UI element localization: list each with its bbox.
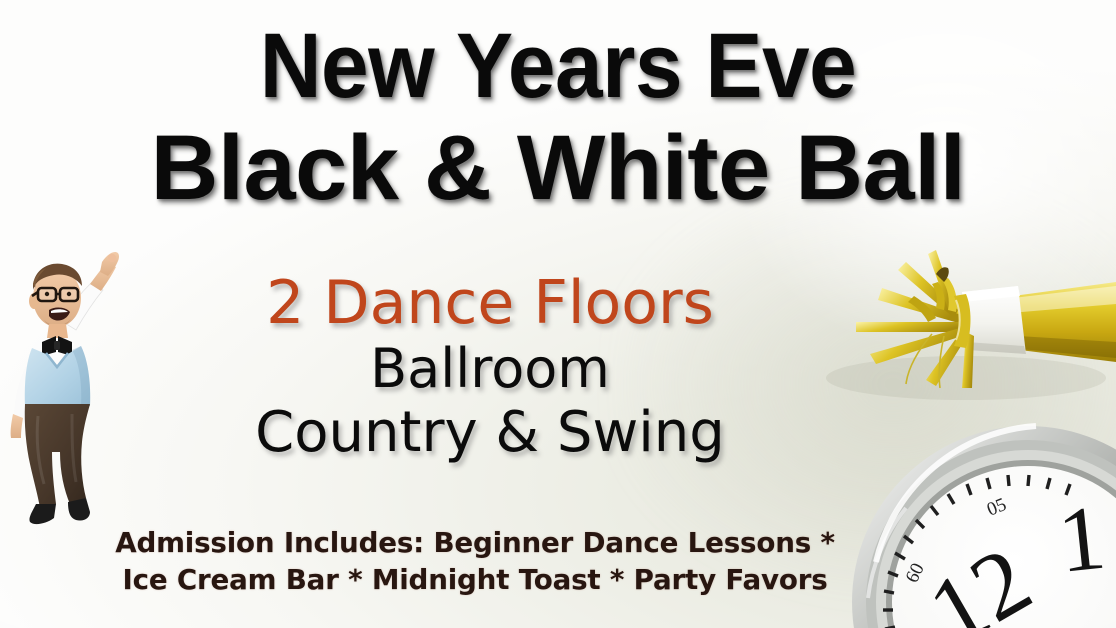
headline-block: New Years Eve Black & White Ball <box>0 14 1116 218</box>
headline-line-2: Black & White Ball <box>0 118 1116 218</box>
admission-line-2: Ice Cream Bar * Midnight Toast * Party F… <box>64 561 886 598</box>
dance-floors-text: 2 Dance Floors <box>110 270 870 336</box>
features-block: 2 Dance Floors Ballroom Country & Swing <box>110 270 870 466</box>
headline-line-1: New Years Eve <box>39 14 1077 118</box>
dance-style-country-swing: Country & Swing <box>110 400 870 466</box>
poster-canvas: 60 05 12 1 New Years Eve Black & White B… <box>0 0 1116 628</box>
dance-style-ballroom: Ballroom <box>110 338 870 400</box>
admission-block: Admission Includes: Beginner Dance Lesso… <box>60 524 890 598</box>
jumping-man-image <box>2 246 124 528</box>
admission-line-1: Admission Includes: Beginner Dance Lesso… <box>64 524 886 561</box>
